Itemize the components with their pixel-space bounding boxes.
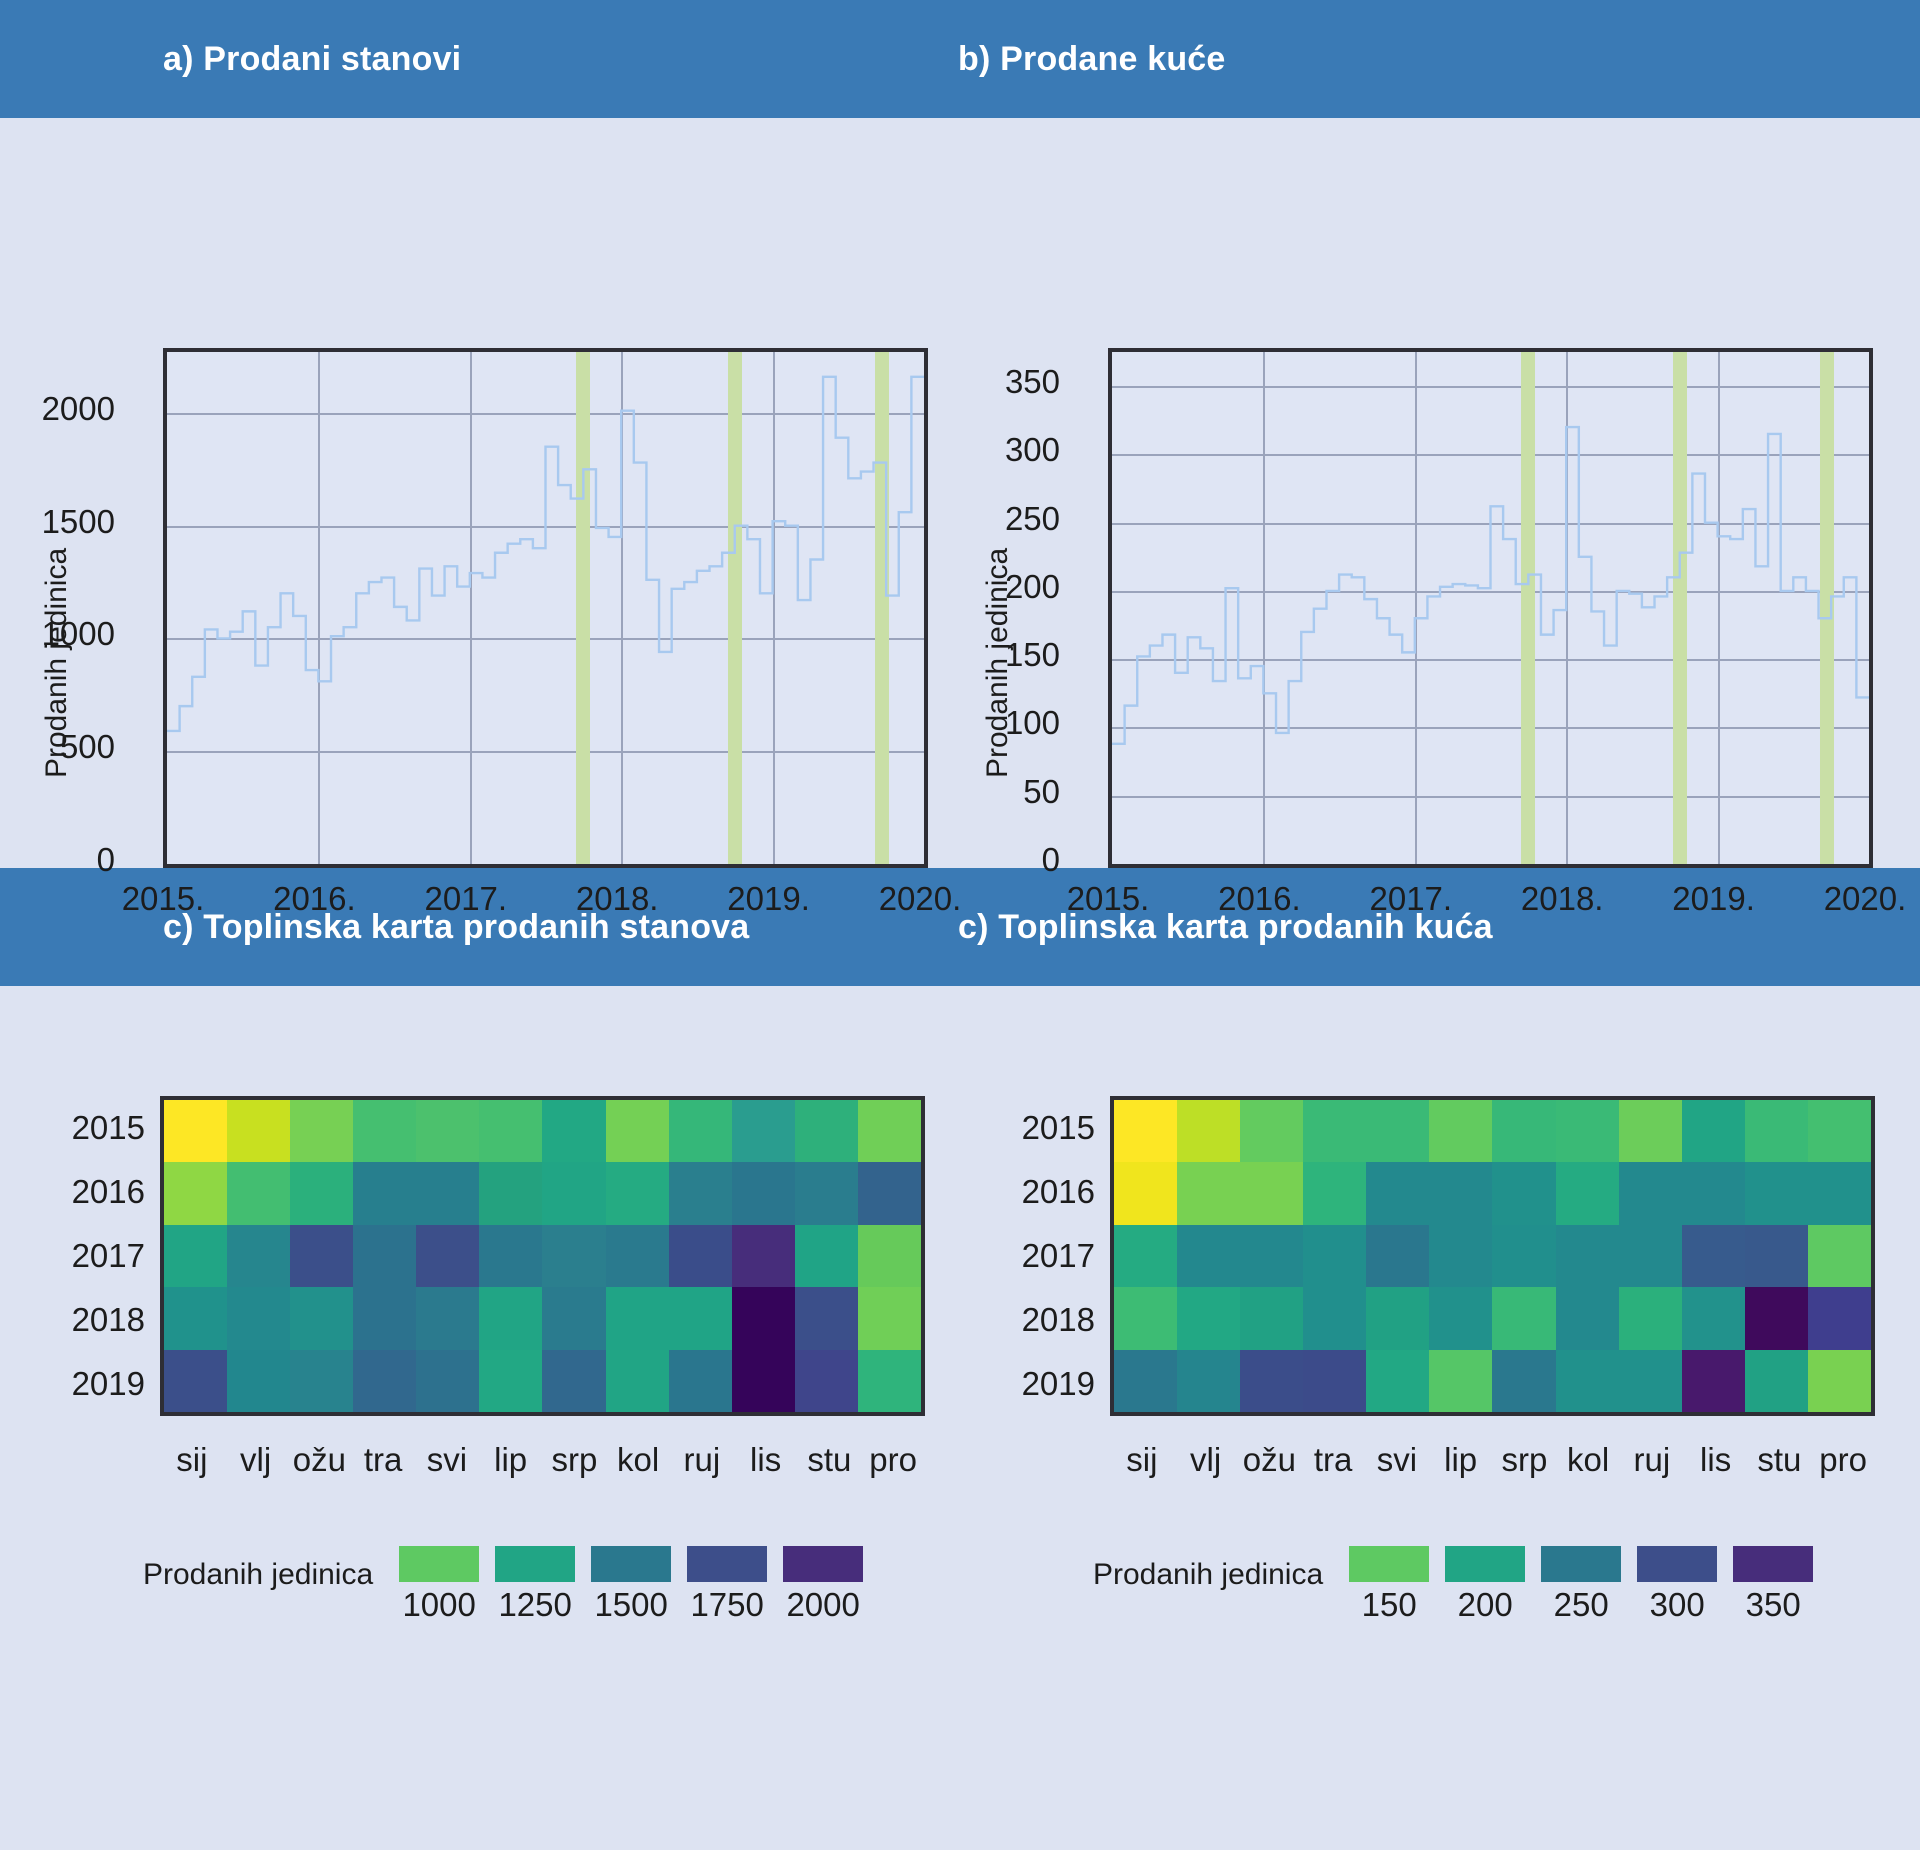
heatmap-row-label: 2015 (1022, 1109, 1095, 1147)
heatmap-cell[interactable] (1682, 1350, 1745, 1412)
heatmap-cell[interactable] (795, 1287, 858, 1349)
y-tick-label: 50 (1023, 773, 1060, 811)
y-tick-label: 300 (1005, 431, 1060, 469)
legend-swatch-value: 200 (1445, 1586, 1525, 1624)
heatmap-cell[interactable] (164, 1225, 227, 1287)
heatmap-cell[interactable] (164, 1350, 227, 1412)
heatmap-col-label: pro (869, 1441, 917, 1479)
heatmap-cell[interactable] (164, 1162, 227, 1224)
heatmap-row-label: 2016 (72, 1173, 145, 1211)
heatmap-cell[interactable] (1619, 1350, 1682, 1412)
heatmap-cell[interactable] (416, 1350, 479, 1412)
heatmap-cell[interactable] (1745, 1225, 1808, 1287)
heatmap-cell[interactable] (858, 1287, 921, 1349)
heatmap-cell[interactable] (1745, 1162, 1808, 1224)
heatmap-cell[interactable] (353, 1162, 416, 1224)
chart-b-plot-area (1108, 348, 1873, 868)
legend-swatch-value: 1500 (591, 1586, 671, 1624)
heatmap-cell[interactable] (1303, 1100, 1366, 1162)
heatmap-cell[interactable] (1619, 1287, 1682, 1349)
heatmap-cell[interactable] (479, 1287, 542, 1349)
heatmap-cell[interactable] (669, 1225, 732, 1287)
heatmap-cell[interactable] (1114, 1287, 1177, 1349)
heatmap-cell[interactable] (1240, 1287, 1303, 1349)
legend-swatch-color (1541, 1546, 1621, 1582)
x-tick-label: 2016. (273, 880, 356, 918)
heatmap-cell[interactable] (1303, 1225, 1366, 1287)
heatmap-cell[interactable] (732, 1162, 795, 1224)
heatmap-cell[interactable] (1177, 1350, 1240, 1412)
heatmap-cell[interactable] (1492, 1287, 1555, 1349)
heatmap-cell[interactable] (416, 1162, 479, 1224)
heatmap-cell[interactable] (1429, 1225, 1492, 1287)
legend-swatch-value: 350 (1733, 1586, 1813, 1624)
heatmap-col-label: srp (551, 1441, 597, 1479)
heatmap-cell[interactable] (416, 1287, 479, 1349)
x-tick-label: 2015. (122, 880, 205, 918)
heatmap-col-label: svi (427, 1441, 467, 1479)
heatmap-cell[interactable] (164, 1100, 227, 1162)
heatmap-cell[interactable] (1303, 1350, 1366, 1412)
heatmap-cell[interactable] (606, 1100, 669, 1162)
heatmap-cell[interactable] (1619, 1100, 1682, 1162)
heatmap-col-label: vlj (1190, 1441, 1221, 1479)
step-line-series (1112, 352, 1869, 864)
heatmap-row-label: 2018 (1022, 1301, 1095, 1339)
heatmap-cell[interactable] (1429, 1100, 1492, 1162)
heatmap-cell[interactable] (290, 1287, 353, 1349)
legend-swatch: 1250 (495, 1546, 575, 1624)
legend-swatch: 250 (1541, 1546, 1621, 1624)
heatmap-cell[interactable] (1303, 1287, 1366, 1349)
x-tick-label: 2018. (1521, 880, 1604, 918)
legend-swatch-value: 2000 (783, 1586, 863, 1624)
legend-swatch-color (1637, 1546, 1717, 1582)
legend-swatches-left: 10001250150017502000 (399, 1546, 879, 1624)
heatmap-panel-kuce: 20152016201720182019 sijvljožutrasvilips… (960, 986, 1920, 1696)
heatmap-cell[interactable] (290, 1100, 353, 1162)
legend-swatch-color (783, 1546, 863, 1582)
legend-swatch-value: 300 (1637, 1586, 1717, 1624)
legend-swatch-color (591, 1546, 671, 1582)
heatmap-cell[interactable] (1429, 1162, 1492, 1224)
heatmap-cell[interactable] (795, 1100, 858, 1162)
panel-a-title: a) Prodani stanovi (163, 40, 958, 79)
heatmap-cell[interactable] (1682, 1225, 1745, 1287)
legend-swatch-value: 250 (1541, 1586, 1621, 1624)
legend-swatch-value: 150 (1349, 1586, 1429, 1624)
y-tick-label: 0 (97, 841, 115, 879)
heatmap-row-label: 2019 (1022, 1365, 1095, 1403)
heatmap-cell[interactable] (290, 1162, 353, 1224)
heatmap-cell[interactable] (290, 1350, 353, 1412)
heatmap-cell[interactable] (1177, 1287, 1240, 1349)
heatmap-cell[interactable] (1808, 1287, 1871, 1349)
heatmap-cell[interactable] (542, 1162, 605, 1224)
heatmap-col-label: pro (1819, 1441, 1867, 1479)
legend-swatch-color (1733, 1546, 1813, 1582)
legend-swatch: 300 (1637, 1546, 1717, 1624)
heatmap-cell[interactable] (479, 1100, 542, 1162)
legend-title-left: Prodanih jedinica (143, 1558, 373, 1592)
legend-swatch-color (495, 1546, 575, 1582)
heatmap-cell[interactable] (353, 1100, 416, 1162)
legend-swatch: 1500 (591, 1546, 671, 1624)
y-tick-label: 200 (1005, 568, 1060, 606)
heatmap-cell[interactable] (1808, 1350, 1871, 1412)
y-tick-label: 2000 (42, 390, 115, 428)
heatmap-col-label: svi (1377, 1441, 1417, 1479)
gridline-vertical (924, 352, 926, 864)
heatmap-cell[interactable] (1682, 1100, 1745, 1162)
heatmap-cell[interactable] (290, 1225, 353, 1287)
heatmap-cell[interactable] (1177, 1162, 1240, 1224)
heatmap-cell[interactable] (542, 1287, 605, 1349)
x-tick-label: 2020. (1824, 880, 1907, 918)
heatmap-cell[interactable] (479, 1162, 542, 1224)
heatmap-cell[interactable] (1745, 1287, 1808, 1349)
heatmap-cell[interactable] (1429, 1350, 1492, 1412)
heatmap-cell[interactable] (164, 1287, 227, 1349)
y-tick-label: 150 (1005, 636, 1060, 674)
heatmap-col-label: sij (176, 1441, 207, 1479)
heatmap-right-legend: Prodanih jedinica 150200250300350 (1093, 1546, 1829, 1624)
heatmap-cell[interactable] (1492, 1225, 1555, 1287)
heatmap-cell[interactable] (606, 1225, 669, 1287)
heatmap-cell[interactable] (1492, 1350, 1555, 1412)
heatmap-right-grid (1110, 1096, 1875, 1416)
x-tick-label: 2016. (1218, 880, 1301, 918)
heatmap-col-label: sij (1126, 1441, 1157, 1479)
heatmap-row-label: 2017 (72, 1237, 145, 1275)
heatmap-cell[interactable] (858, 1162, 921, 1224)
heatmap-row-label: 2018 (72, 1301, 145, 1339)
heatmap-cell[interactable] (669, 1100, 732, 1162)
heatmap-cell[interactable] (542, 1100, 605, 1162)
legend-swatches-right: 150200250300350 (1349, 1546, 1829, 1624)
heatmap-cell[interactable] (1682, 1287, 1745, 1349)
heatmap-col-label: kol (1567, 1441, 1609, 1479)
y-tick-label: 1500 (42, 503, 115, 541)
legend-swatch-color (399, 1546, 479, 1582)
heatmap-cell[interactable] (542, 1225, 605, 1287)
legend-swatch: 200 (1445, 1546, 1525, 1624)
x-tick-label: 2019. (727, 880, 810, 918)
heatmap-cell[interactable] (1556, 1287, 1619, 1349)
panel-b-title: b) Prodane kuće (958, 40, 1226, 79)
heatmap-cell[interactable] (732, 1100, 795, 1162)
x-tick-label: 2018. (576, 880, 659, 918)
heatmap-cell[interactable] (1366, 1287, 1429, 1349)
heatmap-col-label: lip (494, 1441, 527, 1479)
heatmap-cell[interactable] (1808, 1100, 1871, 1162)
gridline-vertical (1869, 352, 1871, 864)
heatmap-cell[interactable] (1619, 1162, 1682, 1224)
y-tick-label: 1000 (42, 615, 115, 653)
heatmaps-row: 20152016201720182019 sijvljožutrasvilips… (0, 986, 1920, 1696)
legend-swatch: 150 (1349, 1546, 1429, 1624)
heatmap-cell[interactable] (606, 1162, 669, 1224)
legend-swatch-value: 1750 (687, 1586, 767, 1624)
heatmap-panel-stanovi: 20152016201720182019 sijvljožutrasvilips… (0, 986, 960, 1696)
heatmap-col-label: ožu (293, 1441, 346, 1479)
heatmap-row-label: 2019 (72, 1365, 145, 1403)
heatmap-cell[interactable] (795, 1162, 858, 1224)
heatmap-col-label: stu (1757, 1441, 1801, 1479)
heatmap-cell[interactable] (1492, 1162, 1555, 1224)
heatmap-cell[interactable] (227, 1287, 290, 1349)
heatmap-cell[interactable] (1114, 1225, 1177, 1287)
heatmap-cell[interactable] (227, 1225, 290, 1287)
x-tick-label: 2017. (1370, 880, 1453, 918)
x-tick-label: 2015. (1067, 880, 1150, 918)
heatmap-cell[interactable] (1177, 1225, 1240, 1287)
heatmap-cell[interactable] (1114, 1100, 1177, 1162)
heatmap-cell[interactable] (1240, 1162, 1303, 1224)
legend-title-right: Prodanih jedinica (1093, 1558, 1323, 1592)
heatmap-cell[interactable] (606, 1350, 669, 1412)
heatmap-col-label: ruj (1634, 1441, 1671, 1479)
heatmap-cell[interactable] (606, 1287, 669, 1349)
heatmap-cell[interactable] (1808, 1162, 1871, 1224)
heatmap-cell[interactable] (479, 1225, 542, 1287)
chart-a-plot-area (163, 348, 928, 868)
heatmap-cell[interactable] (669, 1350, 732, 1412)
heatmap-cell[interactable] (1366, 1100, 1429, 1162)
x-tick-label: 2017. (425, 880, 508, 918)
heatmap-row-label: 2016 (1022, 1173, 1095, 1211)
heatmap-cell[interactable] (732, 1225, 795, 1287)
y-tick-label: 500 (60, 728, 115, 766)
heatmap-cell[interactable] (669, 1287, 732, 1349)
y-tick-label: 250 (1005, 500, 1060, 538)
heatmap-cell[interactable] (1114, 1162, 1177, 1224)
heatmap-cell[interactable] (1492, 1100, 1555, 1162)
heatmap-left-grid (160, 1096, 925, 1416)
heatmap-col-label: ožu (1243, 1441, 1296, 1479)
heatmap-col-label: stu (807, 1441, 851, 1479)
legend-swatch-value: 1250 (495, 1586, 575, 1624)
heatmap-cell[interactable] (353, 1287, 416, 1349)
legend-swatch: 1750 (687, 1546, 767, 1624)
heatmap-cell[interactable] (1556, 1162, 1619, 1224)
heatmap-cell[interactable] (353, 1225, 416, 1287)
y-tick-label: 100 (1005, 704, 1060, 742)
heatmap-cell[interactable] (1303, 1162, 1366, 1224)
chart-panel-a: Prodanih jedinica 0500100015002000 2015.… (0, 118, 960, 818)
step-line-series (167, 352, 924, 864)
heatmap-cell[interactable] (1619, 1225, 1682, 1287)
heatmap-cell[interactable] (416, 1225, 479, 1287)
heatmap-cell[interactable] (1366, 1225, 1429, 1287)
line-charts-row: Prodanih jedinica 0500100015002000 2015.… (0, 118, 1920, 818)
heatmap-cell[interactable] (227, 1100, 290, 1162)
chart-panel-b: Prodanih jedinica 050100150200250300350 … (960, 118, 1920, 818)
heatmap-row-label: 2015 (72, 1109, 145, 1147)
heatmap-cell[interactable] (1240, 1350, 1303, 1412)
heatmap-cell[interactable] (227, 1350, 290, 1412)
heatmap-cell[interactable] (858, 1350, 921, 1412)
legend-swatch: 2000 (783, 1546, 863, 1624)
heatmap-col-label: tra (364, 1441, 403, 1479)
y-tick-label: 350 (1005, 363, 1060, 401)
heatmap-cell[interactable] (1745, 1350, 1808, 1412)
heatmap-cell[interactable] (795, 1350, 858, 1412)
heatmap-cell[interactable] (353, 1350, 416, 1412)
heatmap-cell[interactable] (858, 1225, 921, 1287)
heatmap-cell[interactable] (732, 1350, 795, 1412)
heatmap-col-label: lis (750, 1441, 781, 1479)
heatmap-cell[interactable] (227, 1162, 290, 1224)
heatmap-row-label: 2017 (1022, 1237, 1095, 1275)
heatmap-cell[interactable] (1556, 1350, 1619, 1412)
legend-swatch: 350 (1733, 1546, 1813, 1624)
heatmap-col-label: kol (617, 1441, 659, 1479)
heatmap-col-label: srp (1501, 1441, 1547, 1479)
heatmap-cell[interactable] (732, 1287, 795, 1349)
heatmap-cell[interactable] (1240, 1225, 1303, 1287)
heatmap-cell[interactable] (479, 1350, 542, 1412)
legend-swatch: 1000 (399, 1546, 479, 1624)
heatmap-cell[interactable] (416, 1100, 479, 1162)
heatmap-cell[interactable] (795, 1225, 858, 1287)
x-tick-label: 2019. (1672, 880, 1755, 918)
heatmap-col-label: ruj (684, 1441, 721, 1479)
top-title-band: a) Prodani stanovi b) Prodane kuće (0, 0, 1920, 118)
heatmap-cell[interactable] (1745, 1100, 1808, 1162)
heatmap-cell[interactable] (1114, 1350, 1177, 1412)
heatmap-cell[interactable] (1429, 1287, 1492, 1349)
heatmap-cell[interactable] (1556, 1225, 1619, 1287)
y-tick-label: 0 (1042, 841, 1060, 879)
heatmap-col-label: vlj (240, 1441, 271, 1479)
legend-swatch-color (1445, 1546, 1525, 1582)
heatmap-cell[interactable] (1177, 1100, 1240, 1162)
heatmap-cell[interactable] (669, 1162, 732, 1224)
heatmap-cell[interactable] (1808, 1225, 1871, 1287)
heatmap-col-label: lip (1444, 1441, 1477, 1479)
legend-swatch-value: 1000 (399, 1586, 479, 1624)
heatmap-cell[interactable] (1366, 1350, 1429, 1412)
heatmap-col-label: tra (1314, 1441, 1353, 1479)
heatmap-cell[interactable] (858, 1100, 921, 1162)
heatmap-cell[interactable] (1682, 1162, 1745, 1224)
heatmap-col-label: lis (1700, 1441, 1731, 1479)
heatmap-cell[interactable] (542, 1350, 605, 1412)
heatmap-cell[interactable] (1240, 1100, 1303, 1162)
x-tick-label: 2020. (879, 880, 962, 918)
heatmap-cell[interactable] (1366, 1162, 1429, 1224)
heatmap-cell[interactable] (1556, 1100, 1619, 1162)
legend-swatch-color (1349, 1546, 1429, 1582)
legend-swatch-color (687, 1546, 767, 1582)
heatmap-left-legend: Prodanih jedinica 10001250150017502000 (143, 1546, 879, 1624)
